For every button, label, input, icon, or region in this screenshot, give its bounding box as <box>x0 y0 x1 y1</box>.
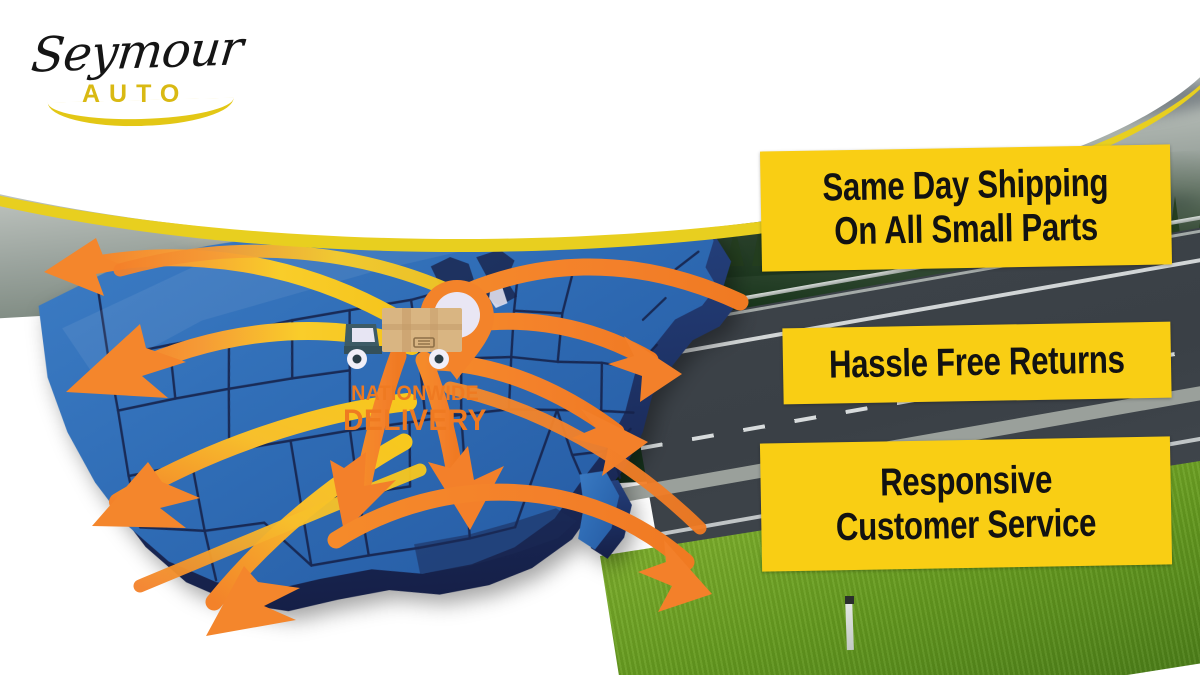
banner-line: Customer Service <box>836 502 1097 550</box>
feature-banner-same-day-shipping: Same Day Shipping On All Small Parts <box>760 144 1172 271</box>
roadside-marker-cap <box>845 596 854 604</box>
banner-line: Hassle Free Returns <box>829 339 1125 388</box>
badge-line-1: NATIONWIDE <box>331 382 498 406</box>
delivery-truck-icon <box>340 302 472 374</box>
logo-script-text: Seymour <box>29 20 245 83</box>
feature-banner-hassle-free-returns: Hassle Free Returns <box>782 322 1171 405</box>
feature-banner-responsive-customer-service: Responsive Customer Service <box>760 436 1172 571</box>
banner-line: Responsive <box>879 459 1052 506</box>
nationwide-delivery-badge: NATIONWIDE DELIVERY <box>320 276 510 456</box>
banner-line: On All Small Parts <box>834 206 1098 254</box>
banner-line: Same Day Shipping <box>822 162 1109 211</box>
seymour-auto-logo[interactable]: Seymour AUTO <box>26 18 236 123</box>
badge-line-2: DELIVERY <box>331 404 498 438</box>
promo-banner-canvas: NATIONWIDE DELIVERY Seymour AUTO Same Da… <box>0 0 1200 675</box>
